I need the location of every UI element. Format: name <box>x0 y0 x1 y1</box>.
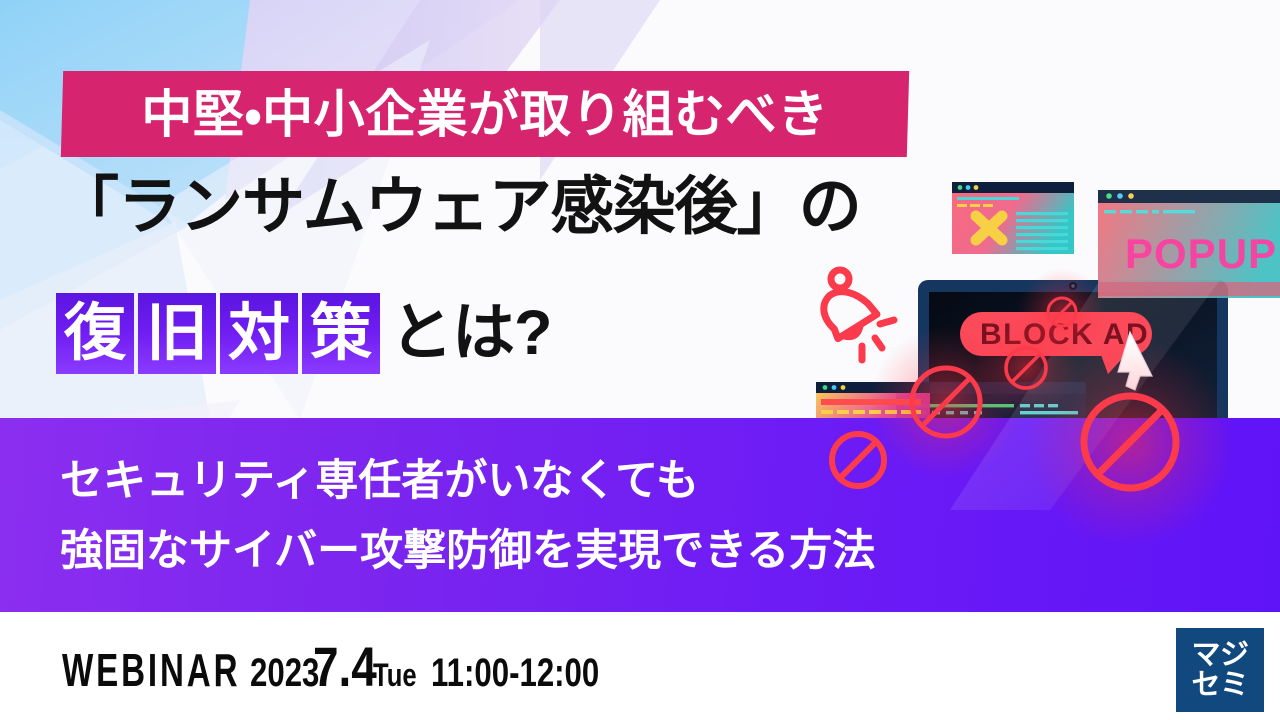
majisemi-logo[interactable]: マジ セミ <box>1176 628 1264 712</box>
logo-line1: マジ <box>1191 640 1248 670</box>
bell-icon <box>816 270 894 360</box>
eyebrow-text: 中堅・中小企業が取り組むべき <box>62 71 908 157</box>
logo-line2: セミ <box>1191 670 1248 700</box>
eyebrow-ribbon: 中堅・中小企業が取り組むべき <box>61 71 909 157</box>
headline-line1: 「ランサムウェア感染後」の <box>56 176 861 239</box>
banner-stage: 中堅・中小企業が取り組むべき 「ランサムウェア感染後」の 復 旧 対 策 とは? <box>0 0 1280 720</box>
subtitle-line2: 強固なサイバー攻撃防御を実現できる方法 <box>60 530 875 573</box>
footer-bar: WEBINAR 2023 7.4 Tue 11:00-12:00 <box>0 612 1280 720</box>
subtitle-band: セキュリティ専任者がいなくても 強固なサイバー攻撃防御を実現できる方法 <box>0 418 1280 612</box>
event-year: 2023 <box>250 651 319 696</box>
footer-schedule: WEBINAR 2023 7.4 Tue 11:00-12:00 <box>62 634 647 699</box>
headline-line2: 復 旧 対 策 とは? <box>56 293 551 374</box>
kanji-box-3: 対 <box>220 293 298 374</box>
subtitle-line1: セキュリティ専任者がいなくても <box>60 460 699 503</box>
kanji-box-4: 策 <box>302 293 380 374</box>
event-time-range: 11:00-12:00 <box>431 651 599 696</box>
event-day-of-week: Tue <box>373 657 417 694</box>
error-window <box>952 182 1074 254</box>
kanji-box-2: 旧 <box>138 293 216 374</box>
event-type-label: WEBINAR <box>62 643 240 697</box>
event-date: 7.4 <box>313 634 377 699</box>
kanji-box-1: 復 <box>56 293 134 374</box>
headline-tail: とは? <box>390 302 551 365</box>
